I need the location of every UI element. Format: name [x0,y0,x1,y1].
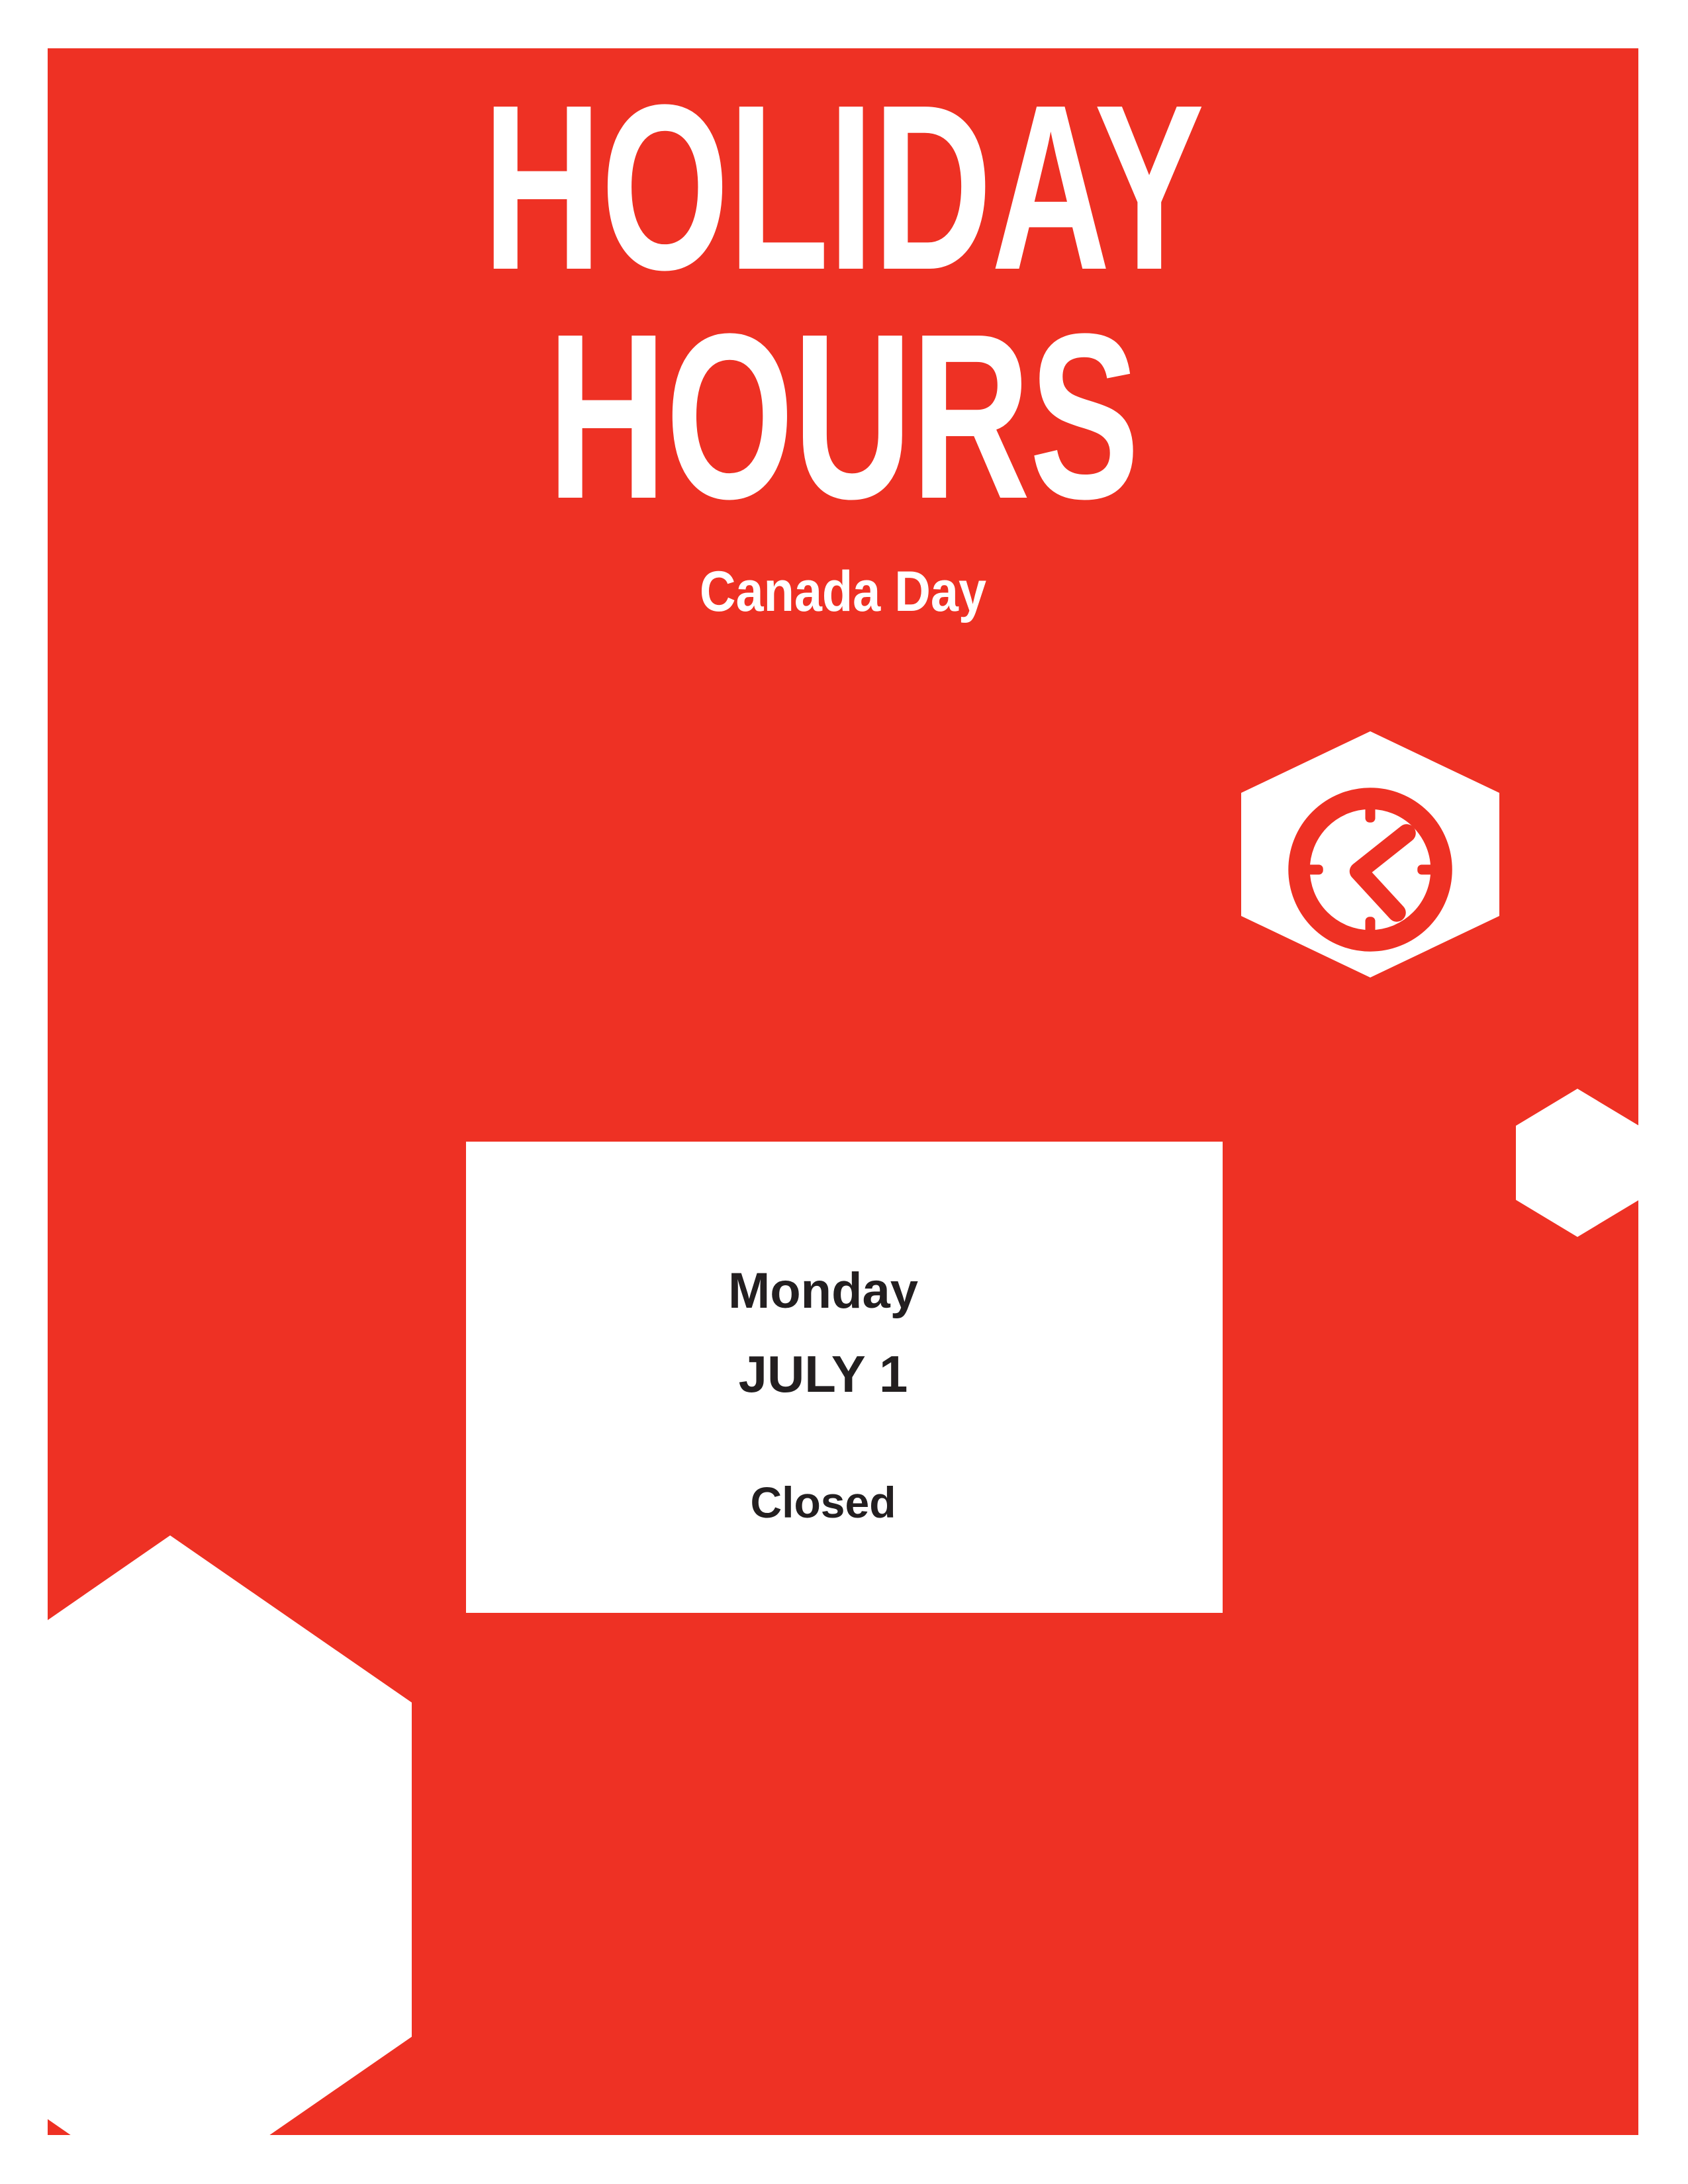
poster-headline-block: HOLIDAY HOURS Canada Day [48,48,1638,620]
hexagon-corner-shape [48,1535,412,2135]
status-badge: Closed [466,1400,1180,1524]
card-weekday-label: Monday [466,1266,1180,1316]
hexagon-accent-shape [1516,1089,1638,1237]
holiday-hours-card: Monday JULY 1 Closed [466,1142,1223,1613]
poster-red-panel: HOLIDAY HOURS Canada Day Monday JULY 1 C… [48,48,1638,2135]
page-title-line-1: HOLIDAY [286,48,1399,300]
clock-icon [1288,787,1453,952]
page-title-line-2: HOURS [286,300,1399,529]
card-date-label: JULY 1 [466,1316,1180,1400]
holiday-hours-card-content: Monday JULY 1 Closed [466,1142,1223,1524]
poster-subtitle: Canada Day [143,529,1543,620]
